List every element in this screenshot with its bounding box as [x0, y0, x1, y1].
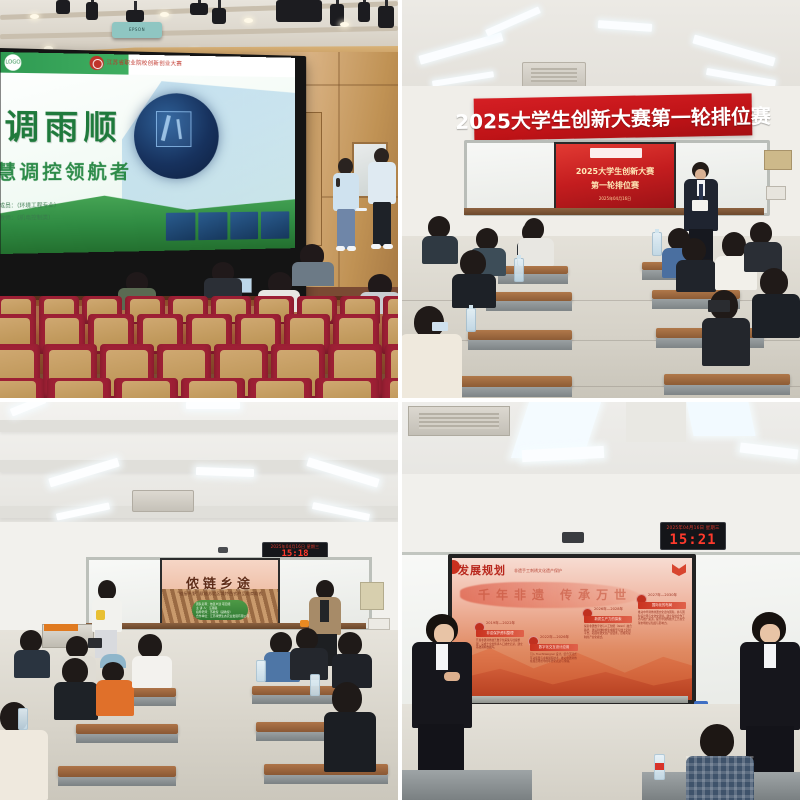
light-switch	[368, 618, 390, 630]
event-banner: 2025大学生创新大赛第一轮排位赛	[474, 93, 753, 140]
timeline-body: 引入 TouchDesigner 设计，结合沉浸式互动装置与虚拟展陈技术，推动非…	[530, 653, 578, 664]
water-bottle	[466, 308, 476, 332]
screen-line-1: 2025大学生创新大赛	[556, 166, 674, 177]
eraser	[300, 620, 309, 627]
screen-org-logo-icon	[590, 148, 642, 158]
audience-body	[292, 262, 334, 286]
screen-line-2: 第一轮排位赛	[556, 180, 674, 191]
water-bottle	[652, 232, 662, 256]
water-bottle	[310, 674, 320, 696]
panel-classroom-red-banner: 2025大学生创新大赛第一轮排位赛 2025大学生创新大赛 第一轮排位赛 202…	[402, 0, 800, 398]
presentation-screen: 2025大学生创新大赛 第一轮排位赛 2025年04月16日	[554, 142, 676, 210]
presentation-screen: 发展规划 非遗手工刺绣文化遗产保护 千年非遗 传承万世 2019年—2022年 …	[448, 554, 696, 704]
orb-graphic	[134, 93, 219, 179]
school-logo-icon: LOGO	[5, 54, 22, 71]
wall-plaque	[360, 582, 384, 610]
projector-label: EPSON	[112, 22, 162, 38]
timeline-title: 数字化交互设计应用	[530, 644, 578, 651]
presentation-slide: LOGO 江苏省职业院校创新创业大赛 风调雨顺 智慧调控领航者 团队成员：（环境…	[0, 52, 295, 254]
ac-vent	[132, 490, 194, 512]
slide-credit-line-1: 团队成员：（环境工程专业）	[0, 202, 59, 212]
desk-row	[402, 770, 532, 800]
phone	[432, 322, 448, 331]
stage-light-icon	[56, 0, 70, 14]
student-desk	[450, 376, 572, 387]
timeline-title: 非遗保护资料整理	[476, 630, 524, 637]
water-bottle	[654, 754, 665, 780]
slide-thumbnails	[166, 211, 289, 240]
stage-light-icon	[378, 6, 394, 28]
ceiling-light	[186, 402, 240, 409]
digital-clock: 2025年04月16日 星期三 15:21	[660, 522, 726, 550]
slide-org-header: 江苏省职业院校创新创业大赛	[107, 58, 182, 67]
slide-title: 风调雨顺	[0, 99, 122, 149]
seat-row	[0, 378, 398, 398]
panel-classroom-nonglianxiangtu: 2025年04月16日 星期三 15:18 侬链乡途 "链接乡野" 赋能苏北区域…	[0, 402, 398, 800]
slide-heading-sub: 非遗手工刺绣文化遗产保护	[514, 568, 562, 574]
stage-light-icon	[190, 3, 208, 15]
slide-subtitle: 智慧调控领航者	[0, 157, 132, 185]
ac-vent	[522, 62, 586, 88]
slide-credit-line-2: 指导教师：（机电控制类）	[0, 214, 54, 224]
info-line: 合作单位：江苏绿野生态农业发展有限公司	[196, 614, 244, 618]
screen-info-box: 团队名称：侬链乡途 项目组 主 讲 人：汪璐璐 指导老师：苏教授（副教授） 合作…	[192, 600, 248, 620]
slide-watermark: 千年非遗 传承万世	[478, 586, 632, 603]
wall-plaque	[764, 150, 792, 170]
student-desk	[76, 724, 178, 734]
light-switch	[766, 186, 786, 200]
timeline-years: 2022年—2026年	[540, 635, 569, 640]
board-ledge	[464, 208, 764, 215]
presentation-screen: 侬链乡途 "链接乡野" 赋能苏北区域特色农产品电商助农 团队名称：侬链乡途 项目…	[160, 558, 280, 626]
clock-time: 15:21	[661, 532, 725, 548]
water-bottle	[18, 708, 28, 730]
screen-subtitle: "链接乡野" 赋能苏北区域特色农产品电商助农	[162, 591, 278, 597]
student-desk	[664, 374, 790, 385]
stage-light-icon	[126, 10, 144, 22]
stage-light-icon	[212, 8, 226, 24]
brand-logo-icon	[672, 564, 686, 576]
student-desk	[486, 292, 572, 301]
stage-light-icon	[358, 2, 370, 22]
timeline-title: 国际化的布局	[638, 602, 686, 609]
ceiling-tile	[626, 402, 686, 442]
stage-light-icon	[86, 2, 98, 20]
competition-logo-icon	[90, 56, 104, 70]
timeline-title: 新质生产力的探索	[584, 616, 632, 623]
clock-date: 2025年04月16日 星期三	[661, 525, 725, 531]
audience-body	[204, 278, 242, 298]
ceiling-light	[686, 402, 755, 436]
banner-text: 2025大学生创新大赛第一轮排位赛	[455, 99, 771, 134]
screen-title: 侬链乡途	[162, 573, 278, 592]
timeline-years: 2019年—2022年	[486, 621, 515, 626]
screen-date: 2025年04月16日	[556, 196, 674, 202]
timeline-body: 探索非遗数字化与人工智能（AIGC）融合路径，建设刺绣纹样生成模型与线上定制平台…	[584, 625, 632, 639]
screen-stand	[448, 696, 688, 703]
timeline-years: 2027年—2030年	[648, 593, 677, 598]
slide-heading: 发展规划	[458, 562, 506, 578]
panel-auditorium-green-slide: EPSON LOGO 江苏省职业院校创新创业大赛	[0, 0, 398, 398]
panel-classroom-development-plan: 2025年04月16日 星期三 15:21 发展规划 非遗手工刺绣文化遗产保护 …	[402, 402, 800, 800]
student-desk	[498, 266, 568, 274]
timeline-body: 推动中华刺绣非遗文化走向国际，参与国际设计周与文化交流展，建立海外合作工坊与推广…	[638, 611, 686, 625]
student-desk	[58, 766, 176, 777]
photo-collage: EPSON LOGO 江苏省职业院校创新创业大赛	[0, 0, 800, 800]
timeline-body: 开展非遗刺绣技艺数字化采集与档案整理，完成十余位传承人口述史记录，建立基础资料数…	[476, 639, 524, 650]
camera-icon	[218, 547, 228, 553]
camera-icon	[562, 532, 584, 543]
water-bottle	[256, 660, 266, 682]
student-desk	[468, 330, 572, 340]
timeline-years: 2026年—2028年	[594, 607, 623, 612]
ac-vent	[408, 406, 510, 436]
student-desk	[252, 686, 338, 695]
water-bottle	[514, 258, 524, 282]
laptop	[708, 300, 730, 312]
stage-light-bar	[276, 0, 322, 22]
phone	[88, 638, 102, 648]
